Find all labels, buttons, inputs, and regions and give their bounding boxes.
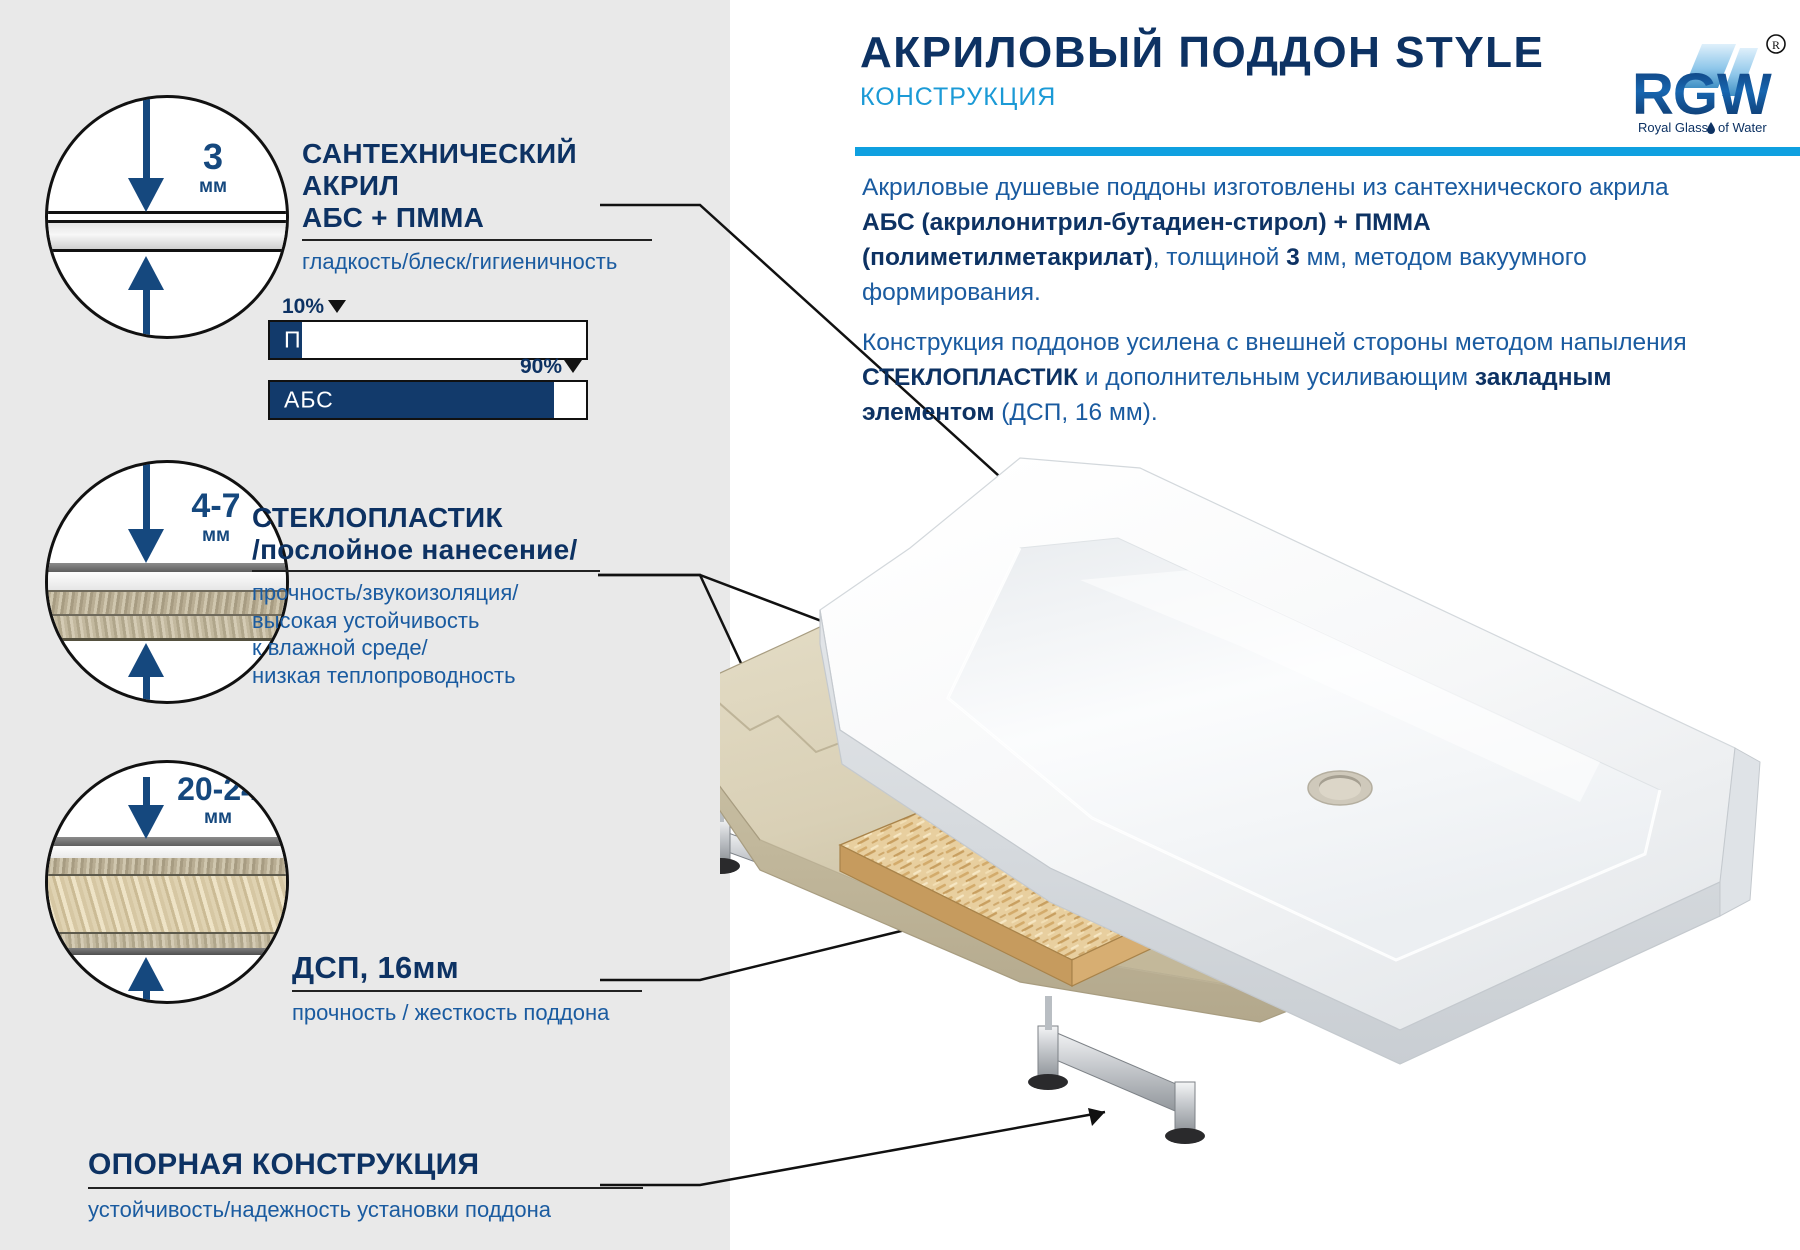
fiberglass-arrow-down-shaft — [143, 463, 150, 531]
fiberglass-title-rule — [252, 570, 600, 572]
pmma-percent-tick — [328, 300, 346, 313]
chipboard-title-line1: ДСП, 16мм — [292, 950, 662, 986]
callout-circle-chipboard: 20-24 мм — [45, 760, 289, 1004]
acrylic-title-rule — [302, 239, 652, 241]
chipboard-layer-glass-bottom — [48, 934, 286, 948]
chipboard-arrow-up-head — [128, 957, 164, 991]
acrylic-tray — [820, 458, 1760, 1064]
acrylic-layer-body — [48, 223, 286, 249]
support-title: ОПОРНАЯ КОНСТРУКЦИЯ — [88, 1148, 648, 1183]
acrylic-title-line1: САНТЕХНИЧЕСКИЙ АКРИЛ — [302, 138, 662, 202]
acrylic-thickness-unit: мм — [178, 176, 248, 198]
callout-label-fiberglass: СТЕКЛОПЛАСТИК /послойное нанесение/ проч… — [252, 502, 622, 689]
fiberglass-arrow-up-head — [128, 643, 164, 677]
acrylic-title-line2: АБС + ПММА — [302, 202, 662, 234]
chipboard-thickness-value: 20-24 — [158, 771, 278, 808]
chipboard-title-rule — [292, 990, 642, 992]
fiberglass-layer-glass-2 — [48, 616, 286, 638]
chipboard-layer-dark-top — [48, 837, 286, 846]
abs-bar-track: АБС — [268, 380, 588, 420]
chipboard-layer-osb — [48, 876, 286, 932]
rgw-logo: RGW Royal Glass of Water R — [1618, 26, 1790, 141]
callout-label-acrylic: САНТЕХНИЧЕСКИЙ АКРИЛ АБС + ПММА гладкост… — [302, 138, 662, 275]
abs-bar-label: АБС — [284, 387, 334, 414]
callout-label-chipboard: ДСП, 16мм прочность / жесткость поддона — [292, 950, 662, 1026]
acrylic-arrow-down-shaft — [143, 98, 150, 180]
header-accent-rule — [855, 147, 1800, 156]
page-title: АКРИЛОВЫЙ ПОДДОН STYLE — [860, 30, 1650, 76]
abs-percent-label: 90% — [520, 355, 562, 379]
fiberglass-layer-white — [48, 572, 286, 590]
fiberglass-layer-dark-top — [48, 563, 286, 572]
fiberglass-thickness-value: 4-7 — [166, 487, 266, 526]
callout-circle-acrylic: 3 мм — [45, 95, 289, 339]
intro-paragraph-2: Конструкция поддонов усилена с внешней с… — [862, 325, 1717, 430]
fiberglass-subtitle: прочность/звукоизоляция/ высокая устойчи… — [252, 579, 622, 689]
svg-text:Royal Glass: Royal Glass — [1638, 120, 1709, 135]
page-subtitle: КОНСТРУКЦИЯ — [860, 83, 1650, 112]
svg-text:of Water: of Water — [1718, 120, 1767, 135]
chipboard-subtitle: прочность / жесткость поддона — [292, 999, 662, 1027]
callout-label-support: ОПОРНАЯ КОНСТРУКЦИЯ устойчивость/надежно… — [88, 1148, 648, 1223]
fiberglass-title-line1: СТЕКЛОПЛАСТИК — [252, 502, 622, 534]
page-header: АКРИЛОВЫЙ ПОДДОН STYLE КОНСТРУКЦИЯ — [860, 30, 1650, 112]
support-subtitle: устойчивость/надежность установки поддон… — [88, 1196, 648, 1224]
pmma-bar-label: ПММА — [284, 327, 358, 354]
fiberglass-title-line2: /послойное нанесение/ — [252, 534, 622, 566]
fiberglass-layer-glass-1 — [48, 592, 286, 614]
fiberglass-arrow-up-shaft — [143, 675, 150, 701]
chipboard-layer-dark-bottom — [48, 948, 286, 955]
support-title-rule — [88, 1187, 643, 1189]
acrylic-layer-line-bottom — [48, 249, 286, 252]
svg-text:R: R — [1772, 38, 1780, 52]
fiberglass-layer-line-c — [48, 638, 286, 641]
acrylic-subtitle: гладкость/блеск/гигиеничность — [302, 248, 662, 276]
acrylic-arrow-up-shaft — [143, 288, 150, 336]
chipboard-layer-white — [48, 846, 286, 858]
pmma-percent-label: 10% — [282, 295, 324, 319]
chipboard-layer-glass — [48, 858, 286, 874]
fiberglass-arrow-down-head — [128, 529, 164, 563]
shower-tray-3d-render — [720, 430, 1800, 1230]
acrylic-arrow-up-head — [128, 256, 164, 290]
acrylic-arrow-down-head — [128, 178, 164, 212]
svg-text:RGW: RGW — [1632, 62, 1772, 127]
acrylic-thickness-value: 3 — [178, 136, 248, 178]
pmma-bar-track: ПММА — [268, 320, 588, 360]
fiberglass-thickness-unit: мм — [166, 525, 266, 547]
intro-paragraph-1: Акриловые душевые поддоны изготовлены из… — [862, 170, 1717, 310]
abs-percent-tick — [564, 360, 582, 373]
chipboard-thickness-unit: мм — [158, 807, 278, 829]
